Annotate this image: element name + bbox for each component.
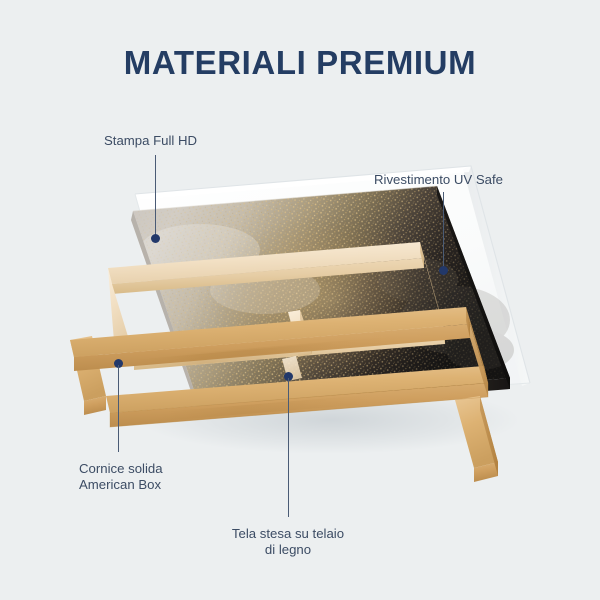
callout-label-tela-stesa: Tela stesa su telaio di legno [228, 526, 348, 558]
leader-line-tela-stesa [288, 378, 289, 517]
callout-label-cornice-solida: Cornice solida American Box [79, 461, 163, 493]
callout-dot-stampa-full-hd [151, 234, 160, 243]
product-materials-infographic: MATERIALI PREMIUM [0, 0, 600, 600]
exploded-product-illustration [0, 0, 600, 600]
leader-line-cornice-solida [118, 365, 119, 452]
callout-dot-rivestimento-uv-safe [439, 266, 448, 275]
leader-line-rivestimento-uv-safe [443, 192, 444, 270]
callout-label-stampa-full-hd: Stampa Full HD [104, 133, 197, 149]
leader-line-stampa-full-hd [155, 155, 156, 238]
callout-label-rivestimento-uv-safe: Rivestimento UV Safe [374, 172, 503, 188]
american-box-solid-frame [70, 307, 498, 482]
